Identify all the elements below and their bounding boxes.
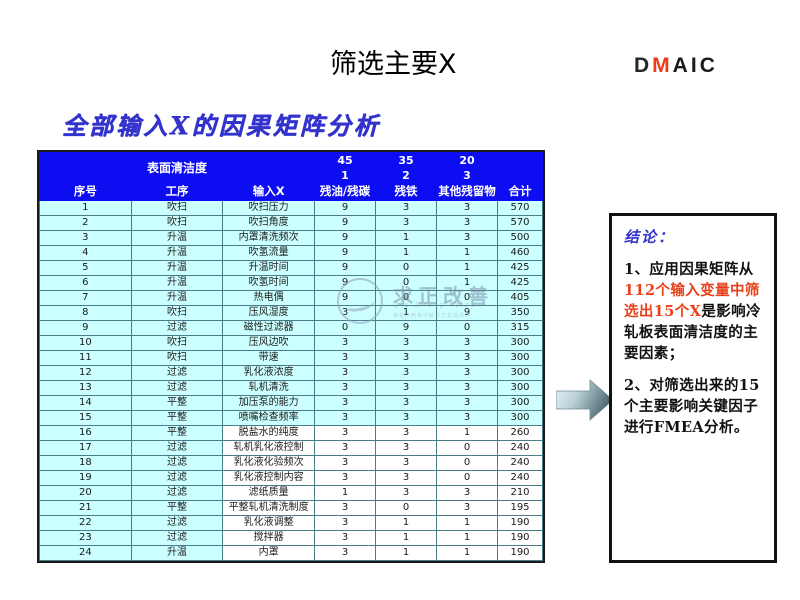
row-score-2: 9 — [376, 321, 437, 336]
row-index: 15 — [40, 411, 132, 426]
table-row[interactable]: 3升温内罩清洗频次913500 — [40, 231, 543, 246]
row-score-1: 3 — [315, 516, 376, 531]
row-process: 平整 — [131, 411, 223, 426]
row-total: 190 — [498, 546, 543, 561]
row-input-name: 脱盐水的纯度 — [223, 426, 315, 441]
row-score-2: 3 — [376, 201, 437, 216]
row-score-3: 0 — [437, 291, 498, 306]
table-row[interactable]: 6升温吹氢时间901425 — [40, 276, 543, 291]
weight-total-blank — [498, 153, 543, 183]
row-total: 190 — [498, 516, 543, 531]
row-input-name: 带速 — [223, 351, 315, 366]
col-header-input: 输入X — [223, 183, 315, 201]
table-row[interactable]: 23过滤搅拌器311190 — [40, 531, 543, 546]
table-row[interactable]: 12过滤乳化液浓度333300 — [40, 366, 543, 381]
dmaic-letter-m: M — [652, 54, 673, 77]
matrix-header: 表面清洁度 45 35 20 1 2 3 序号 工序 输入X 残油/残碳 残铁 — [40, 153, 543, 201]
row-score-1: 3 — [315, 501, 376, 516]
matrix-title-cell: 表面清洁度 — [40, 153, 315, 183]
row-process: 过滤 — [131, 366, 223, 381]
conclusion-box: 结论： 1、应用因果矩阵从112个输入变量中筛选出15个X是影响冷轧板表面清洁度… — [609, 213, 777, 563]
row-score-3: 0 — [437, 441, 498, 456]
row-score-2: 3 — [376, 456, 437, 471]
row-total: 405 — [498, 291, 543, 306]
row-score-1: 3 — [315, 441, 376, 456]
row-process: 升温 — [131, 276, 223, 291]
table-row[interactable]: 20过滤滤纸质量133210 — [40, 486, 543, 501]
row-process: 升温 — [131, 546, 223, 561]
row-process: 平整 — [131, 426, 223, 441]
row-score-2: 0 — [376, 261, 437, 276]
row-score-3: 3 — [437, 381, 498, 396]
row-score-3: 1 — [437, 426, 498, 441]
conclusion-heading: 结论： — [624, 226, 765, 247]
row-score-3: 9 — [437, 306, 498, 321]
row-total: 570 — [498, 201, 543, 216]
slide-canvas: 筛选主要X DMAIC 全部输入X的因果矩阵分析 表面清洁度 45 35 20 … — [0, 0, 800, 600]
row-score-1: 9 — [315, 246, 376, 261]
row-score-1: 9 — [315, 276, 376, 291]
row-score-3: 3 — [437, 351, 498, 366]
row-score-3: 3 — [437, 486, 498, 501]
row-process: 吹扫 — [131, 306, 223, 321]
row-total: 300 — [498, 351, 543, 366]
row-total: 300 — [498, 411, 543, 426]
row-score-1: 9 — [315, 261, 376, 276]
row-total: 240 — [498, 471, 543, 486]
row-index: 13 — [40, 381, 132, 396]
table-row[interactable]: 14平整加压泵的能力333300 — [40, 396, 543, 411]
row-score-3: 3 — [437, 216, 498, 231]
row-score-2: 3 — [376, 366, 437, 381]
row-input-name: 吹扫角度 — [223, 216, 315, 231]
conclusion-item-1-part-a: 1、应用因果矩阵从 — [624, 261, 754, 278]
row-score-1: 3 — [315, 471, 376, 486]
row-index: 19 — [40, 471, 132, 486]
row-score-2: 3 — [376, 486, 437, 501]
table-row[interactable]: 16平整脱盐水的纯度331260 — [40, 426, 543, 441]
row-input-name: 轧机清洗 — [223, 381, 315, 396]
row-score-1: 3 — [315, 381, 376, 396]
table-row[interactable]: 19过滤乳化液控制内容330240 — [40, 471, 543, 486]
matrix-body: 1吹扫吹扫压力9335702吹扫吹扫角度9335703升温内罩清洗频次91350… — [40, 201, 543, 561]
row-total: 570 — [498, 216, 543, 231]
row-process: 过滤 — [131, 516, 223, 531]
row-index: 4 — [40, 246, 132, 261]
col-header-output-3: 其他残留物 — [437, 183, 498, 201]
table-row[interactable]: 24升温内罩311190 — [40, 546, 543, 561]
row-index: 10 — [40, 336, 132, 351]
row-input-name: 搅拌器 — [223, 531, 315, 546]
col-header-index: 序号 — [40, 183, 132, 201]
row-score-1: 0 — [315, 321, 376, 336]
row-score-1: 3 — [315, 306, 376, 321]
dmaic-logo: DMAIC — [634, 54, 718, 78]
row-index: 22 — [40, 516, 132, 531]
row-process: 过滤 — [131, 456, 223, 471]
row-input-name: 乳化液浓度 — [223, 366, 315, 381]
table-row[interactable]: 2吹扫吹扫角度933570 — [40, 216, 543, 231]
index-cell-1: 1 — [315, 168, 376, 183]
row-index: 7 — [40, 291, 132, 306]
row-input-name: 磁性过滤器 — [223, 321, 315, 336]
row-score-3: 1 — [437, 261, 498, 276]
row-process: 吹扫 — [131, 336, 223, 351]
row-total: 260 — [498, 426, 543, 441]
row-score-3: 1 — [437, 516, 498, 531]
row-score-2: 1 — [376, 516, 437, 531]
row-input-name: 乳化液调整 — [223, 516, 315, 531]
row-index: 18 — [40, 456, 132, 471]
dmaic-letter-a: A — [673, 54, 691, 77]
row-score-1: 3 — [315, 456, 376, 471]
table-row[interactable]: 21平整平整轧机清洗制度303195 — [40, 501, 543, 516]
row-total: 425 — [498, 261, 543, 276]
row-index: 20 — [40, 486, 132, 501]
row-score-2: 1 — [376, 546, 437, 561]
row-total: 350 — [498, 306, 543, 321]
row-input-name: 内罩清洗频次 — [223, 231, 315, 246]
row-process: 升温 — [131, 231, 223, 246]
row-score-2: 1 — [376, 531, 437, 546]
row-process: 过滤 — [131, 471, 223, 486]
row-score-3: 0 — [437, 456, 498, 471]
row-input-name: 平整轧机清洗制度 — [223, 501, 315, 516]
conclusion-item-2: 2、对筛选出来的15个主要影响关键因子进行FMEA分析。 — [624, 375, 765, 438]
row-input-name: 喷嘴检查频率 — [223, 411, 315, 426]
row-input-name: 吹氢时间 — [223, 276, 315, 291]
row-input-name: 滤纸质量 — [223, 486, 315, 501]
row-process: 平整 — [131, 396, 223, 411]
row-score-3: 1 — [437, 531, 498, 546]
row-input-name: 吹扫压力 — [223, 201, 315, 216]
table-row[interactable]: 10吹扫压风边吹333300 — [40, 336, 543, 351]
row-score-1: 3 — [315, 531, 376, 546]
row-process: 平整 — [131, 501, 223, 516]
row-index: 16 — [40, 426, 132, 441]
row-index: 24 — [40, 546, 132, 561]
weight-cell-1: 45 — [315, 153, 376, 168]
table-row[interactable]: 17过滤轧机乳化液控制330240 — [40, 441, 543, 456]
row-process: 过滤 — [131, 486, 223, 501]
table-row[interactable]: 22过滤乳化液调整311190 — [40, 516, 543, 531]
row-score-3: 3 — [437, 201, 498, 216]
row-process: 升温 — [131, 291, 223, 306]
row-index: 12 — [40, 366, 132, 381]
dmaic-letter-i: I — [691, 54, 700, 77]
row-score-2: 3 — [376, 441, 437, 456]
row-process: 吹扫 — [131, 201, 223, 216]
row-score-1: 9 — [315, 231, 376, 246]
row-score-2: 3 — [376, 381, 437, 396]
row-input-name: 吹氢流量 — [223, 246, 315, 261]
row-total: 425 — [498, 276, 543, 291]
row-process: 吹扫 — [131, 351, 223, 366]
row-input-name: 乳化液控制内容 — [223, 471, 315, 486]
row-input-name: 轧机乳化液控制 — [223, 441, 315, 456]
row-process: 吹扫 — [131, 216, 223, 231]
dmaic-letter-d: D — [634, 54, 652, 77]
matrix-weight-row: 表面清洁度 45 35 20 — [40, 153, 543, 168]
row-input-name: 内罩 — [223, 546, 315, 561]
row-score-3: 1 — [437, 246, 498, 261]
table-row[interactable]: 11吹扫带速333300 — [40, 351, 543, 366]
index-cell-3: 3 — [437, 168, 498, 183]
row-score-3: 0 — [437, 471, 498, 486]
weight-cell-3: 20 — [437, 153, 498, 168]
weight-cell-2: 35 — [376, 153, 437, 168]
row-score-3: 1 — [437, 276, 498, 291]
row-total: 300 — [498, 381, 543, 396]
conclusion-item-1: 1、应用因果矩阵从112个输入变量中筛选出15个X是影响冷轧板表面清洁度的主要因… — [624, 259, 765, 364]
col-header-output-1: 残油/残碳 — [315, 183, 376, 201]
row-score-2: 1 — [376, 306, 437, 321]
row-score-2: 3 — [376, 216, 437, 231]
row-index: 5 — [40, 261, 132, 276]
row-score-3: 1 — [437, 546, 498, 561]
row-index: 6 — [40, 276, 132, 291]
row-score-3: 3 — [437, 396, 498, 411]
table-row[interactable]: 7升温热电偶900405 — [40, 291, 543, 306]
row-index: 17 — [40, 441, 132, 456]
row-score-2: 3 — [376, 411, 437, 426]
row-score-1: 3 — [315, 426, 376, 441]
row-process: 过滤 — [131, 321, 223, 336]
row-score-1: 3 — [315, 366, 376, 381]
row-input-name: 乳化液化验频次 — [223, 456, 315, 471]
row-index: 3 — [40, 231, 132, 246]
cause-effect-matrix: 表面清洁度 45 35 20 1 2 3 序号 工序 输入X 残油/残碳 残铁 — [37, 150, 545, 563]
row-score-2: 0 — [376, 276, 437, 291]
table-row[interactable]: 1吹扫吹扫压力933570 — [40, 201, 543, 216]
row-total: 300 — [498, 336, 543, 351]
row-score-3: 0 — [437, 321, 498, 336]
row-total: 315 — [498, 321, 543, 336]
row-score-3: 3 — [437, 366, 498, 381]
page-title: 筛选主要X — [330, 42, 457, 81]
row-total: 300 — [498, 396, 543, 411]
table-row[interactable]: 4升温吹氢流量911460 — [40, 246, 543, 261]
row-score-1: 3 — [315, 351, 376, 366]
row-score-2: 3 — [376, 471, 437, 486]
table-row[interactable]: 5升温升温时间901425 — [40, 261, 543, 276]
row-total: 500 — [498, 231, 543, 246]
row-process: 过滤 — [131, 381, 223, 396]
row-index: 11 — [40, 351, 132, 366]
row-index: 8 — [40, 306, 132, 321]
row-index: 23 — [40, 531, 132, 546]
row-total: 240 — [498, 441, 543, 456]
row-input-name: 热电偶 — [223, 291, 315, 306]
table-row[interactable]: 9过滤磁性过滤器090315 — [40, 321, 543, 336]
row-total: 195 — [498, 501, 543, 516]
row-score-2: 0 — [376, 501, 437, 516]
row-process: 升温 — [131, 246, 223, 261]
row-index: 21 — [40, 501, 132, 516]
table-row[interactable]: 8吹扫压风湿度319350 — [40, 306, 543, 321]
row-index: 9 — [40, 321, 132, 336]
row-score-3: 3 — [437, 336, 498, 351]
row-score-2: 1 — [376, 246, 437, 261]
row-score-2: 3 — [376, 426, 437, 441]
row-total: 300 — [498, 366, 543, 381]
row-input-name: 压风湿度 — [223, 306, 315, 321]
row-score-3: 3 — [437, 231, 498, 246]
table-row[interactable]: 13过滤轧机清洗333300 — [40, 381, 543, 396]
row-score-1: 1 — [315, 486, 376, 501]
dmaic-letter-c: C — [700, 54, 718, 77]
row-score-2: 1 — [376, 231, 437, 246]
row-index: 2 — [40, 216, 132, 231]
row-score-1: 3 — [315, 336, 376, 351]
row-score-2: 3 — [376, 351, 437, 366]
row-score-3: 3 — [437, 501, 498, 516]
matrix-table: 表面清洁度 45 35 20 1 2 3 序号 工序 输入X 残油/残碳 残铁 — [39, 152, 543, 561]
index-cell-2: 2 — [376, 168, 437, 183]
row-score-1: 3 — [315, 411, 376, 426]
table-row[interactable]: 18过滤乳化液化验频次330240 — [40, 456, 543, 471]
row-score-2: 0 — [376, 291, 437, 306]
row-total: 460 — [498, 246, 543, 261]
col-header-output-2: 残铁 — [376, 183, 437, 201]
row-total: 190 — [498, 531, 543, 546]
row-process: 过滤 — [131, 531, 223, 546]
row-score-1: 9 — [315, 291, 376, 306]
col-header-process: 工序 — [131, 183, 223, 201]
flow-arrow-icon — [556, 378, 614, 422]
col-header-total: 合计 — [498, 183, 543, 201]
row-index: 1 — [40, 201, 132, 216]
row-score-2: 3 — [376, 396, 437, 411]
row-score-1: 9 — [315, 201, 376, 216]
row-input-name: 加压泵的能力 — [223, 396, 315, 411]
row-process: 过滤 — [131, 441, 223, 456]
row-score-2: 3 — [376, 336, 437, 351]
row-score-1: 3 — [315, 396, 376, 411]
table-row[interactable]: 15平整喷嘴检查频率333300 — [40, 411, 543, 426]
subtitle: 全部输入X的因果矩阵分析 — [62, 106, 381, 141]
row-total: 240 — [498, 456, 543, 471]
row-process: 升温 — [131, 261, 223, 276]
row-input-name: 压风边吹 — [223, 336, 315, 351]
row-input-name: 升温时间 — [223, 261, 315, 276]
row-total: 210 — [498, 486, 543, 501]
row-score-3: 3 — [437, 411, 498, 426]
row-index: 14 — [40, 396, 132, 411]
row-score-1: 9 — [315, 216, 376, 231]
row-score-1: 3 — [315, 546, 376, 561]
matrix-label-row: 序号 工序 输入X 残油/残碳 残铁 其他残留物 合计 — [40, 183, 543, 201]
